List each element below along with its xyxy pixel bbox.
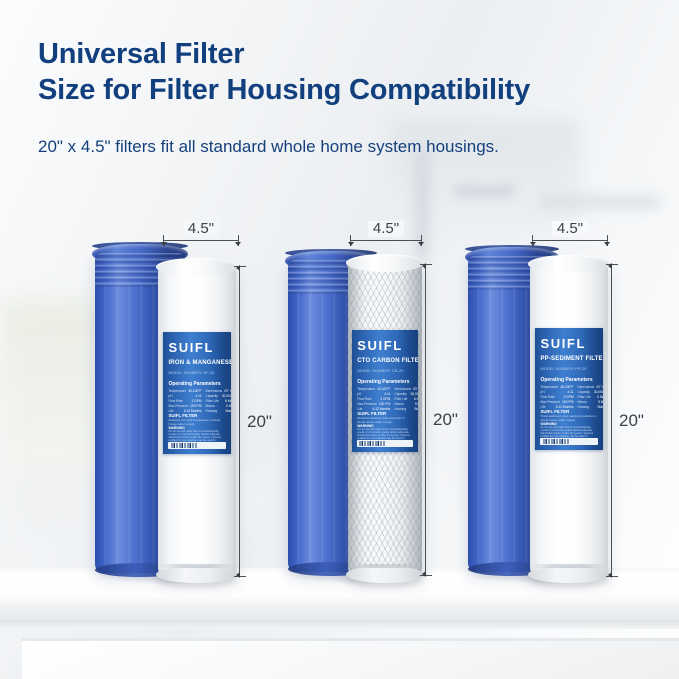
spec-key: pH <box>168 394 172 398</box>
label-1-spec-row: pH4-11 <box>168 394 201 398</box>
product-label-2: SUIFL CTO CARBON FILTER MODEL NUMBER: CB… <box>352 330 418 452</box>
spec-key: Temperature <box>540 385 558 389</box>
label-1-spec-table: Temperature40-100°F pH4-11 Flow Rate2 GP… <box>168 389 225 413</box>
spec-key: Dimensions <box>206 389 223 393</box>
spec-value: 30,000 Gal. <box>411 392 418 396</box>
label-3-model: MODEL NUMBER: PP-20 <box>540 366 586 371</box>
spec-key: Filter Life <box>578 395 591 399</box>
label-3-spec-row: HousingStandard <box>578 405 604 409</box>
label-3-spec-table: Temperature40-100°F pH4-11 Flow Rate2 GP… <box>540 385 597 409</box>
cartridge-1-top-cap <box>156 258 238 276</box>
label-3-barcode <box>543 439 569 443</box>
label-1-spec-col-right: Dimensions20" X 4.5" Capacity30,000 Gal.… <box>206 389 232 413</box>
height-dimension-2: 20" <box>419 264 433 576</box>
label-3-subbrand: SUIFL FILTER <box>540 409 569 414</box>
filter-cartridge-cto-carbon: SUIFL CTO CARBON FILTER MODEL NUMBER: CB… <box>348 262 422 576</box>
spec-value: 2 GPM <box>380 397 390 401</box>
dim-arrow-right <box>604 242 610 246</box>
label-1-brand: SUIFL <box>168 341 214 355</box>
label-2-spec-row: Capacity30,000 Gal. <box>394 392 418 396</box>
spec-value: 20" X 4.5" <box>596 385 603 389</box>
spec-key: Temperature <box>357 387 375 391</box>
spec-value: 4-11 <box>195 394 201 398</box>
label-1-spec-row: HousingStandard <box>206 409 232 413</box>
spec-key: Max Pressure <box>168 404 188 408</box>
height-dimension-label-1: 20" <box>247 413 272 431</box>
lower-shelf-edge <box>22 638 679 641</box>
product-label-1: SUIFL IRON & MANGANESE FILTER MODEL NUMB… <box>163 332 231 454</box>
label-1-spec-row: Filter Life6 Months <box>206 399 232 403</box>
spec-value: 100 PSI <box>562 400 573 404</box>
dim-arrow-right <box>418 242 424 246</box>
spec-key: Dimensions <box>578 385 595 389</box>
label-2-spec-row: Micron5 Micron <box>394 402 418 406</box>
lower-shelf <box>22 638 679 679</box>
label-1-spec-title: Operating Parameters <box>168 381 220 387</box>
spec-value: Standard <box>225 409 231 413</box>
label-2-barcode <box>359 441 385 445</box>
spec-key: Capacity <box>394 392 406 396</box>
spec-key: Housing <box>394 407 406 411</box>
width-dimension-2: 4.5" <box>350 231 422 245</box>
label-2-type: CTO CARBON FILTER <box>357 358 418 365</box>
label-3-barcode-strip <box>540 438 597 445</box>
label-1-spec-row: Capacity30,000 Gal. <box>206 394 232 398</box>
cartridge-3-top-cap <box>528 255 610 273</box>
spec-value: 30,000 Gal. <box>222 394 231 398</box>
product-infographic: Universal Filter Size for Filter Housing… <box>0 0 679 679</box>
label-1-model: MODEL NUMBER: SF-20 <box>168 370 214 375</box>
label-1-type: IRON & MANGANESE FILTER <box>168 360 231 367</box>
headline-line-1: Universal Filter <box>38 38 244 70</box>
cartridge-3-base-seam <box>530 564 608 568</box>
spec-key: Micron <box>394 402 404 406</box>
spec-value: 4-11 <box>384 392 390 396</box>
product-label-3: SUIFL PP-SEDIMENT FILTER MODEL NUMBER: P… <box>535 328 603 450</box>
spec-key: Flow Rate <box>357 397 371 401</box>
spec-value: 40-100°F <box>560 385 573 389</box>
label-3-spec-row: Filter Life6 Months <box>578 395 604 399</box>
label-1-spec-row: Max Pressure100 PSI <box>168 404 201 408</box>
label-2-spec-row: HousingStandard <box>394 407 418 411</box>
spec-value: 6 Months <box>597 395 603 399</box>
cartridge-2-top-cap <box>346 254 424 272</box>
spec-value: 100 PSI <box>379 402 390 406</box>
spec-value: 40-100°F <box>188 389 201 393</box>
label-3-brand: SUIFL <box>540 337 586 351</box>
spec-key: Max Pressure <box>540 400 560 404</box>
page-subtitle: 20" x 4.5" filters fit all standard whol… <box>38 136 648 158</box>
dim-line <box>350 240 422 241</box>
label-3-spec-row: Capacity30,000 Gal. <box>578 390 604 394</box>
label-3-spec-row: Dimensions20" X 4.5" <box>578 385 604 389</box>
label-2-spec-row: Temperature40-100°F <box>357 387 390 391</box>
label-1-spec-row: Temperature40-100°F <box>168 389 201 393</box>
height-dimension-label-3: 20" <box>619 412 644 430</box>
label-3-spec-row: Flow Rate2 GPM <box>540 395 573 399</box>
label-3-type: PP-SEDIMENT FILTER <box>540 356 603 363</box>
spec-value: 30,000 Gal. <box>594 390 603 394</box>
spec-key: Max Pressure <box>357 402 377 406</box>
label-3-spec-row: Micron5 Micron <box>578 400 604 404</box>
headline-line-2: Size for Filter Housing Compatibility <box>38 72 638 108</box>
spec-key: Micron <box>206 404 216 408</box>
spec-value: Standard <box>414 407 418 411</box>
width-dimension-label-3: 4.5" <box>552 221 588 237</box>
label-2-model: MODEL NUMBER: CB-20 <box>357 368 403 373</box>
spec-value: 2 GPM <box>564 395 574 399</box>
page-title: Universal Filter Size for Filter Housing… <box>38 36 638 108</box>
spec-key: Housing <box>578 405 590 409</box>
label-2-spec-col-left: Temperature40-100°F pH4-11 Flow Rate2 GP… <box>357 387 390 411</box>
dim-line <box>239 266 240 577</box>
spec-value: 2 GPM <box>192 399 202 403</box>
label-1-spec-col-left: Temperature40-100°F pH4-11 Flow Rate2 GP… <box>168 389 201 413</box>
cartridge-1-bottom-cap <box>156 566 238 583</box>
label-1-subbrand: SUIFL FILTER <box>168 413 197 418</box>
width-dimension-3: 4.5" <box>532 231 608 245</box>
label-2-spec-row: Filter Life6 Months <box>394 397 418 401</box>
label-1-spec-row: Micron5 Micron <box>206 404 232 408</box>
label-2-brand: SUIFL <box>357 339 403 353</box>
filter-cartridge-iron-manganese: SUIFL IRON & MANGANESE FILTER MODEL NUMB… <box>158 266 236 576</box>
label-2-subbrand: SUIFL FILTER <box>357 411 386 416</box>
cartridge-2-base-seam <box>348 564 422 568</box>
dim-line <box>163 240 239 241</box>
background-blur-shelf-a <box>455 185 515 197</box>
spec-key: Capacity <box>578 390 590 394</box>
spec-value: 4-11 <box>567 390 573 394</box>
spec-key: Housing <box>206 409 218 413</box>
dim-arrow-left <box>530 242 536 246</box>
label-1-description: Reduces iron and manganese in whole hous… <box>168 418 225 426</box>
spec-value: 20" X 4.5" <box>224 389 231 393</box>
dim-line <box>425 264 426 576</box>
width-dimension-1: 4.5" <box>163 231 239 245</box>
label-3-spec-row: Temperature40-100°F <box>540 385 573 389</box>
spec-value: 6 Months <box>225 399 231 403</box>
spec-key: Flow Rate <box>540 395 554 399</box>
dim-arrow-top <box>422 263 426 269</box>
label-2-description: Reduces chlorine, taste and odor in whol… <box>357 416 412 424</box>
dim-arrow-bottom <box>608 572 612 578</box>
dim-line <box>611 264 612 577</box>
height-dimension-3: 20" <box>605 264 619 577</box>
label-2-spec-row: Flow Rate2 GPM <box>357 397 390 401</box>
dim-arrow-right <box>235 242 241 246</box>
label-2-spec-row: Max Pressure100 PSI <box>357 402 390 406</box>
dim-arrow-bottom <box>236 572 240 578</box>
spec-value: 100 PSI <box>190 404 201 408</box>
label-2-spec-row: pH4-11 <box>357 392 390 396</box>
spec-value: 5 Micron <box>226 404 231 408</box>
dim-arrow-bottom <box>422 571 426 577</box>
spec-key: Flow Rate <box>168 399 182 403</box>
dim-arrow-top <box>608 263 612 269</box>
spec-value: 20" X 4.5" <box>413 387 418 391</box>
dim-arrow-left <box>348 242 354 246</box>
dim-line <box>532 240 608 241</box>
label-3-spec-col-right: Dimensions20" X 4.5" Capacity30,000 Gal.… <box>578 385 604 409</box>
label-3-spec-row: Max Pressure100 PSI <box>540 400 573 404</box>
label-2-spec-row: Dimensions20" X 4.5" <box>394 387 418 391</box>
spec-key: Temperature <box>168 389 186 393</box>
background-blur-shelf-b <box>540 195 660 209</box>
filter-cartridge-pp-sediment: SUIFL PP-SEDIMENT FILTER MODEL NUMBER: P… <box>530 263 608 576</box>
width-dimension-label-1: 4.5" <box>183 221 219 237</box>
spec-value: 40-100°F <box>377 387 390 391</box>
spec-key: pH <box>540 390 544 394</box>
label-3-description: Traps sediment, rust, sand and particles… <box>540 414 597 422</box>
label-1-spec-row: Flow Rate2 GPM <box>168 399 201 403</box>
label-3-spec-title: Operating Parameters <box>540 377 592 383</box>
spec-key: Capacity <box>206 394 218 398</box>
label-1-spec-row: Dimensions20" X 4.5" <box>206 389 232 393</box>
spec-value: Standard <box>597 405 603 409</box>
counter-front-lip <box>0 620 679 629</box>
label-2-spec-table: Temperature40-100°F pH4-11 Flow Rate2 GP… <box>357 387 412 411</box>
spec-key: Filter Life <box>394 397 407 401</box>
spec-key: Filter Life <box>206 399 219 403</box>
height-dimension-label-2: 20" <box>433 411 458 429</box>
label-1-barcode-strip <box>168 442 225 449</box>
label-2-barcode-strip <box>357 440 412 447</box>
spec-key: Dimensions <box>394 387 411 391</box>
cartridge-1-base-seam <box>158 564 236 568</box>
cartridge-2-bottom-cap <box>346 566 424 583</box>
spec-key: pH <box>357 392 361 396</box>
spec-value: 5 Micron <box>415 402 418 406</box>
label-3-spec-col-left: Temperature40-100°F pH4-11 Flow Rate2 GP… <box>540 385 573 409</box>
spec-key: Micron <box>578 400 588 404</box>
label-2-spec-title: Operating Parameters <box>357 379 409 385</box>
spec-value: 5 Micron <box>598 400 603 404</box>
height-dimension-1: 20" <box>233 266 247 577</box>
dim-arrow-top <box>236 265 240 271</box>
spec-value: 6 Months <box>414 397 418 401</box>
label-2-spec-col-right: Dimensions20" X 4.5" Capacity30,000 Gal.… <box>394 387 418 411</box>
label-3-spec-row: pH4-11 <box>540 390 573 394</box>
label-1-barcode <box>171 443 197 447</box>
cartridge-3-bottom-cap <box>528 566 610 583</box>
dim-arrow-left <box>161 242 167 246</box>
width-dimension-label-2: 4.5" <box>368 221 404 237</box>
